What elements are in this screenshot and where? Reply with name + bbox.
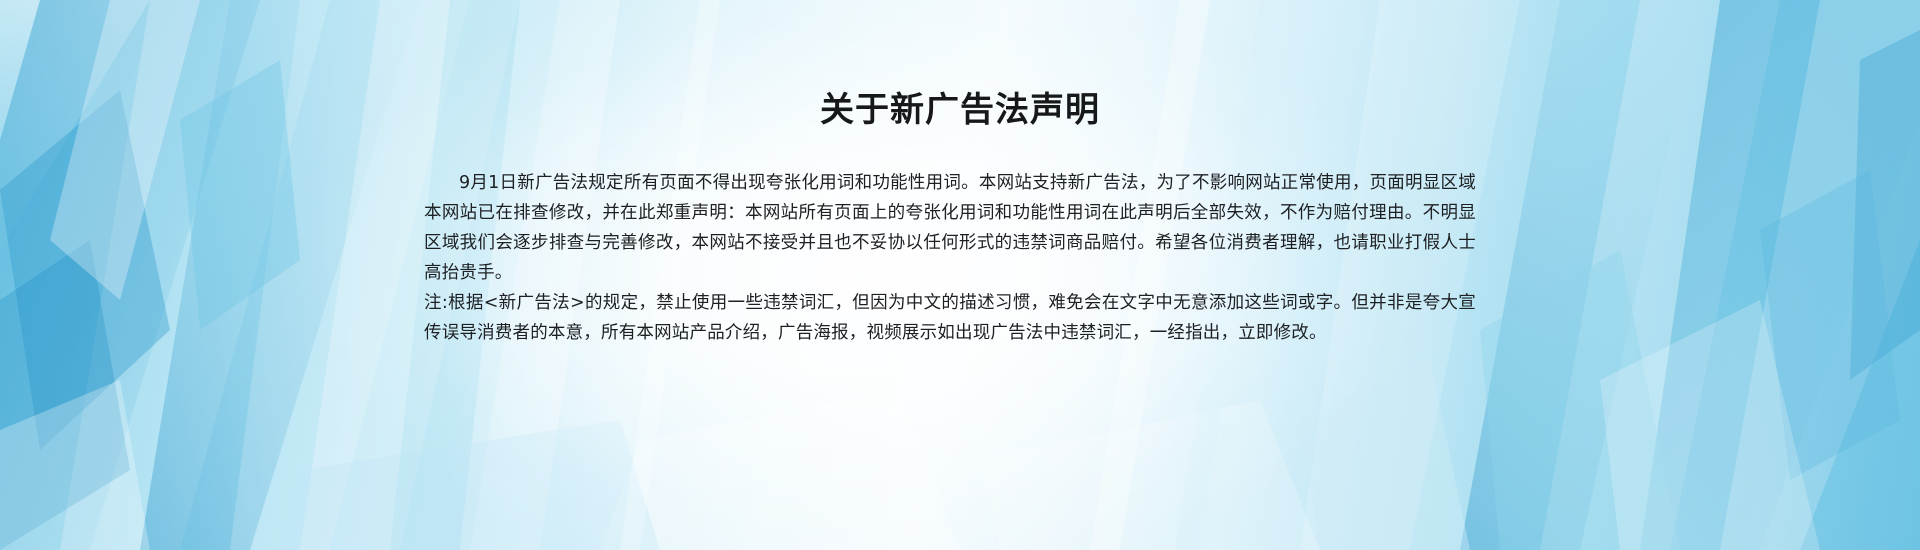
banner-content: 关于新广告法声明 9月1日新广告法规定所有页面不得出现夸张化用词和功能性用词。本… bbox=[0, 0, 1920, 550]
page-title: 关于新广告法声明 bbox=[0, 88, 1920, 132]
advertising-law-statement-banner: 关于新广告法声明 9月1日新广告法规定所有页面不得出现夸张化用词和功能性用词。本… bbox=[0, 0, 1920, 550]
statement-paragraph-main: 9月1日新广告法规定所有页面不得出现夸张化用词和功能性用词。本网站支持新广告法，… bbox=[424, 168, 1476, 288]
statement-paragraph-note: 注:根据<新广告法>的规定，禁止使用一些违禁词汇，但因为中文的描述习惯，难免会在… bbox=[424, 288, 1476, 348]
statement-body: 9月1日新广告法规定所有页面不得出现夸张化用词和功能性用词。本网站支持新广告法，… bbox=[424, 168, 1476, 348]
